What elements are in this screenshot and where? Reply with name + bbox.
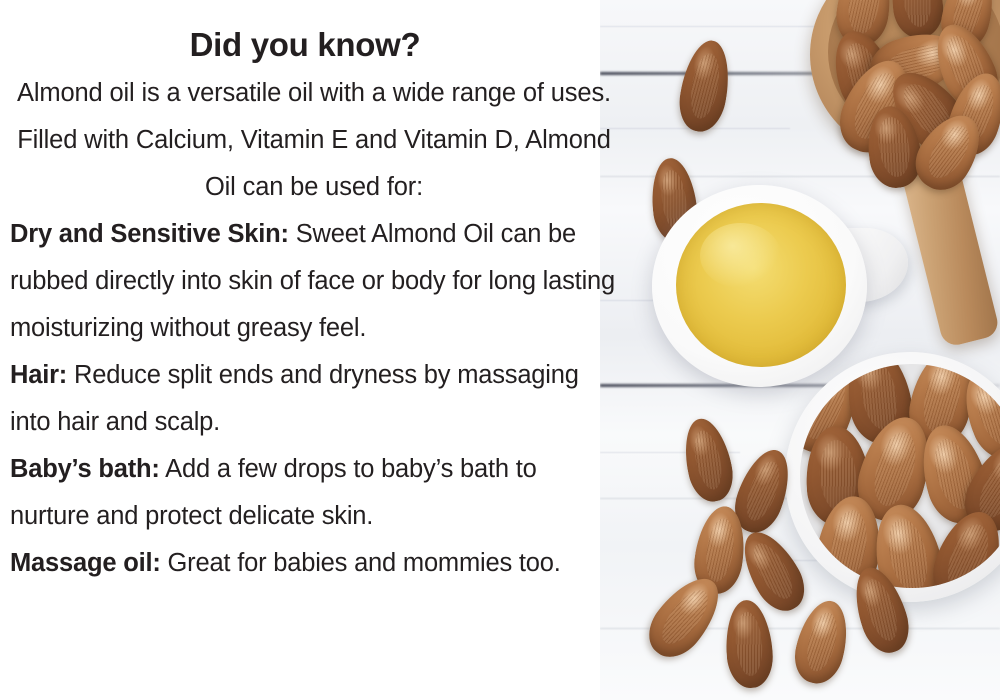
almond [678, 414, 739, 505]
section-babys-bath: Baby’s bath: Add a few drops to baby’s b… [10, 446, 618, 540]
section-massage-oil: Massage oil: Great for babies and mommie… [10, 540, 618, 587]
intro-paragraph: Almond oil is a versatile oil with a wid… [10, 70, 618, 211]
almond [789, 595, 856, 688]
almond-bowl-interior [800, 364, 1000, 588]
almond-oil [676, 203, 846, 367]
text-panel: Did you know? Almond oil is a versatile … [0, 0, 630, 700]
section-body: Reduce split ends and dryness by massagi… [10, 361, 579, 436]
almond [723, 599, 775, 690]
section-heading: Massage oil: [10, 549, 161, 577]
almond-photo [600, 0, 1000, 700]
wood-grain [600, 26, 850, 27]
section-dry-and-sensitive-skin: Dry and Sensitive Skin: Sweet Almond Oil… [10, 211, 618, 352]
page-title: Did you know? [10, 26, 618, 64]
section-heading: Hair: [10, 361, 67, 389]
section-heading: Baby’s bath: [10, 455, 160, 483]
section-hair: Hair: Reduce split ends and dryness by m… [10, 352, 618, 446]
section-body: Great for babies and mommies too. [161, 549, 561, 577]
section-heading: Dry and Sensitive Skin: [10, 220, 289, 248]
almond [674, 37, 735, 136]
